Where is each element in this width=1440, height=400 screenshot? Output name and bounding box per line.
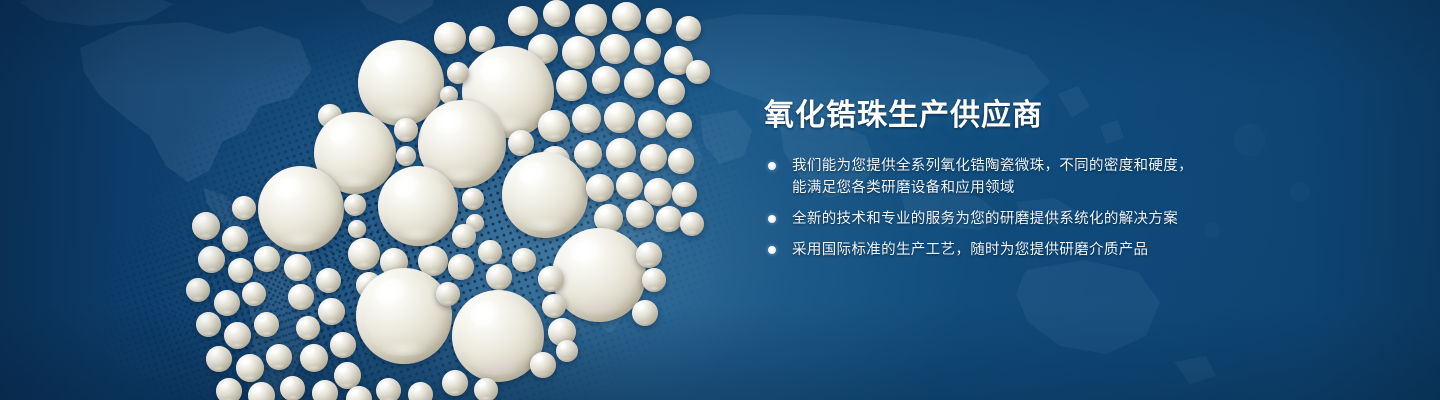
hero-banner: 氧化锆珠生产供应商 我们能为您提供全系列氧化锆陶瓷微珠，不同的密度和硬度， 能满…: [0, 0, 1440, 400]
edge-shading: [0, 0, 1440, 400]
